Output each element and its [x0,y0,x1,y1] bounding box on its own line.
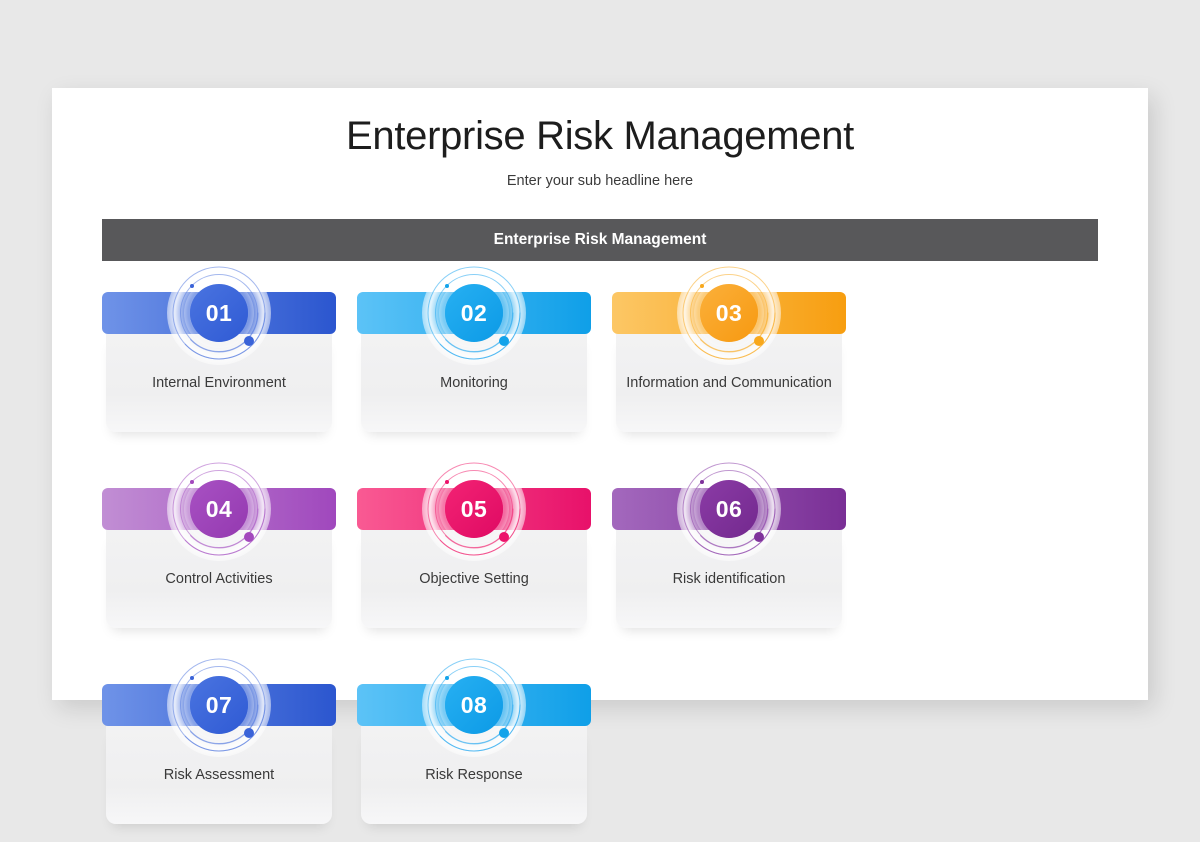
card-number-badge: 07 [190,676,248,734]
card-number-badge: 06 [700,480,758,538]
section-banner: Enterprise Risk Management [102,219,1098,261]
badge-dot-small [445,676,449,680]
badge-dot-large [499,336,509,346]
badge-dot-small [445,480,449,484]
slide-canvas: Enterprise Risk Management Enter your su… [52,88,1148,700]
card-number-badge: 03 [700,284,758,342]
slide-header: Enterprise Risk Management Enter your su… [52,88,1148,189]
badge-dot-large [244,532,254,542]
step-card[interactable]: Information and Communication 03 [612,270,846,450]
step-card[interactable]: Control Activities 04 [102,466,336,646]
step-card[interactable]: Monitoring 02 [357,270,591,450]
step-card[interactable]: Risk Assessment 07 [102,662,336,842]
badge-dot-large [244,336,254,346]
card-number-badge: 01 [190,284,248,342]
card-number-badge: 05 [445,480,503,538]
step-card[interactable]: Risk Response 08 [357,662,591,842]
badge-dot-large [499,532,509,542]
step-card[interactable]: Risk identification 06 [612,466,846,646]
card-number-badge: 02 [445,284,503,342]
badge-dot-small [190,480,194,484]
badge-dot-small [190,676,194,680]
step-card[interactable]: Internal Environment 01 [102,270,336,450]
step-card[interactable]: Objective Setting 05 [357,466,591,646]
page-subtitle: Enter your sub headline here [52,173,1148,189]
badge-dot-small [700,284,704,288]
card-number-badge: 04 [190,480,248,538]
card-number-badge: 08 [445,676,503,734]
badge-dot-small [190,284,194,288]
badge-dot-small [700,480,704,484]
badge-dot-small [445,284,449,288]
badge-dot-large [244,728,254,738]
badge-dot-large [754,532,764,542]
card-grid: Internal Environment 01 Monitoring [102,270,1098,842]
page-title: Enterprise Risk Management [52,114,1148,159]
badge-dot-large [499,728,509,738]
section-banner-label: Enterprise Risk Management [494,231,707,249]
badge-dot-large [754,336,764,346]
